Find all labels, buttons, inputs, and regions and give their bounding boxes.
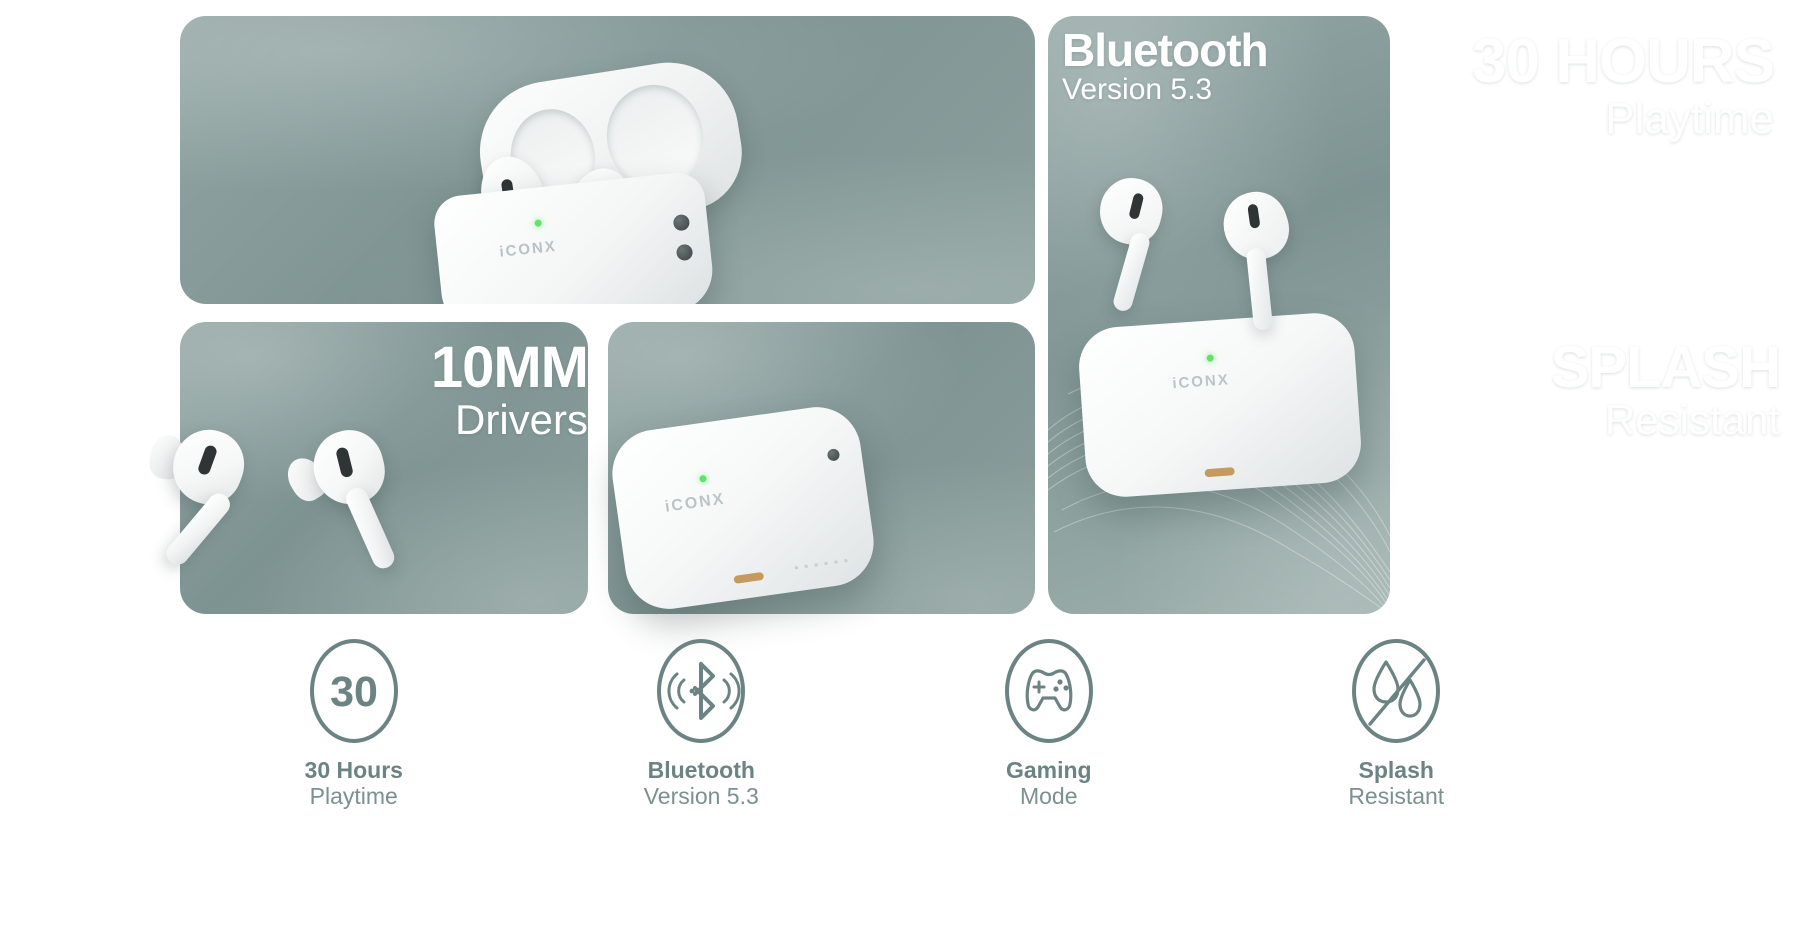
brand-logo-on-case: iCONX xyxy=(664,490,727,516)
charging-case-open-image: iCONX xyxy=(428,72,758,304)
subline-resistant: Resistant xyxy=(1551,398,1780,443)
case-body: iCONX xyxy=(432,170,717,304)
feature-line1: 30 Hours xyxy=(305,758,403,784)
panel-text-30-hours: 30 HOURS Playtime xyxy=(1472,32,1774,143)
charging-port xyxy=(733,572,764,584)
feature-label-gaming: Gaming Mode xyxy=(1006,758,1092,810)
feature-line2: Resistant xyxy=(1348,784,1444,810)
case-shell: iCONX xyxy=(607,401,880,614)
status-led-indicator xyxy=(534,219,542,227)
earbud-mic-grille xyxy=(1128,192,1144,220)
feature-label-splash: Splash Resistant xyxy=(1348,758,1444,810)
headline-30-hours: 30 HOURS xyxy=(1472,32,1774,92)
subline-version: Version 5.3 xyxy=(1062,74,1268,106)
feature-line1: Gaming xyxy=(1006,758,1092,784)
feature-item-bluetooth[interactable]: Bluetooth Version 5.3 xyxy=(528,636,876,926)
bluetooth-icon xyxy=(651,636,751,746)
case-button-upper xyxy=(673,214,691,232)
earbud-mic-grille xyxy=(1247,204,1260,229)
status-led-indicator xyxy=(1206,354,1213,361)
feature-panel-30-hours: iCONX xyxy=(180,16,1035,304)
feature-line2: Version 5.3 xyxy=(644,784,759,810)
subline-playtime: Playtime xyxy=(1472,96,1774,143)
earbud-stem xyxy=(1246,247,1273,331)
case-speaker-dots xyxy=(795,558,853,569)
thirty-hours-icon: 30 xyxy=(304,636,404,746)
brand-logo-on-case: iCONX xyxy=(499,238,558,261)
panel-text-bluetooth: Bluetooth Version 5.3 xyxy=(1062,28,1268,105)
water-droplets-icon xyxy=(1346,636,1446,746)
feature-line1: Bluetooth xyxy=(644,758,759,784)
headline-10mm: 10MM xyxy=(431,340,588,396)
feature-line1: Splash xyxy=(1348,758,1444,784)
earbud-image-bt-left xyxy=(1096,178,1186,318)
charging-case-closed-image: iCONX xyxy=(618,418,868,598)
feature-line2: Mode xyxy=(1006,784,1092,810)
earbud-mic-grille xyxy=(197,444,219,476)
headline-splash: SPLASH xyxy=(1551,340,1780,396)
thirty-number-label: 30 xyxy=(330,668,378,716)
feature-icon-row: 30 30 Hours Playtime Bluetooth Version 5… xyxy=(180,636,1570,926)
case-button-lower xyxy=(676,244,694,262)
promo-feature-board: iCONX 30 HOURS Playtime 10MM Drivers xyxy=(0,0,1800,938)
brand-logo-on-case: iCONX xyxy=(1172,371,1231,392)
charging-port xyxy=(1204,467,1234,477)
subline-drivers: Drivers xyxy=(431,398,588,443)
panel-text-splash: SPLASH Resistant xyxy=(1551,340,1780,443)
charging-case-image-bluetooth: iCONX xyxy=(1082,320,1358,490)
feature-label-bluetooth: Bluetooth Version 5.3 xyxy=(644,758,759,810)
earbud-image-bt-right xyxy=(1210,192,1320,342)
feature-line2: Playtime xyxy=(305,784,403,810)
feature-item-gaming[interactable]: Gaming Mode xyxy=(875,636,1223,926)
earbud-mic-grille xyxy=(335,446,354,478)
gamepad-icon xyxy=(999,636,1099,746)
feature-label-30-hours: 30 Hours Playtime xyxy=(305,758,403,810)
headline-bluetooth: Bluetooth xyxy=(1062,28,1268,73)
panel-text-10mm: 10MM Drivers xyxy=(431,340,588,443)
feature-item-splash[interactable]: Splash Resistant xyxy=(1223,636,1571,926)
feature-item-30-hours[interactable]: 30 30 Hours Playtime xyxy=(180,636,528,926)
status-led-indicator xyxy=(699,475,707,483)
case-button xyxy=(827,448,841,462)
earbud-stem xyxy=(1111,231,1151,313)
